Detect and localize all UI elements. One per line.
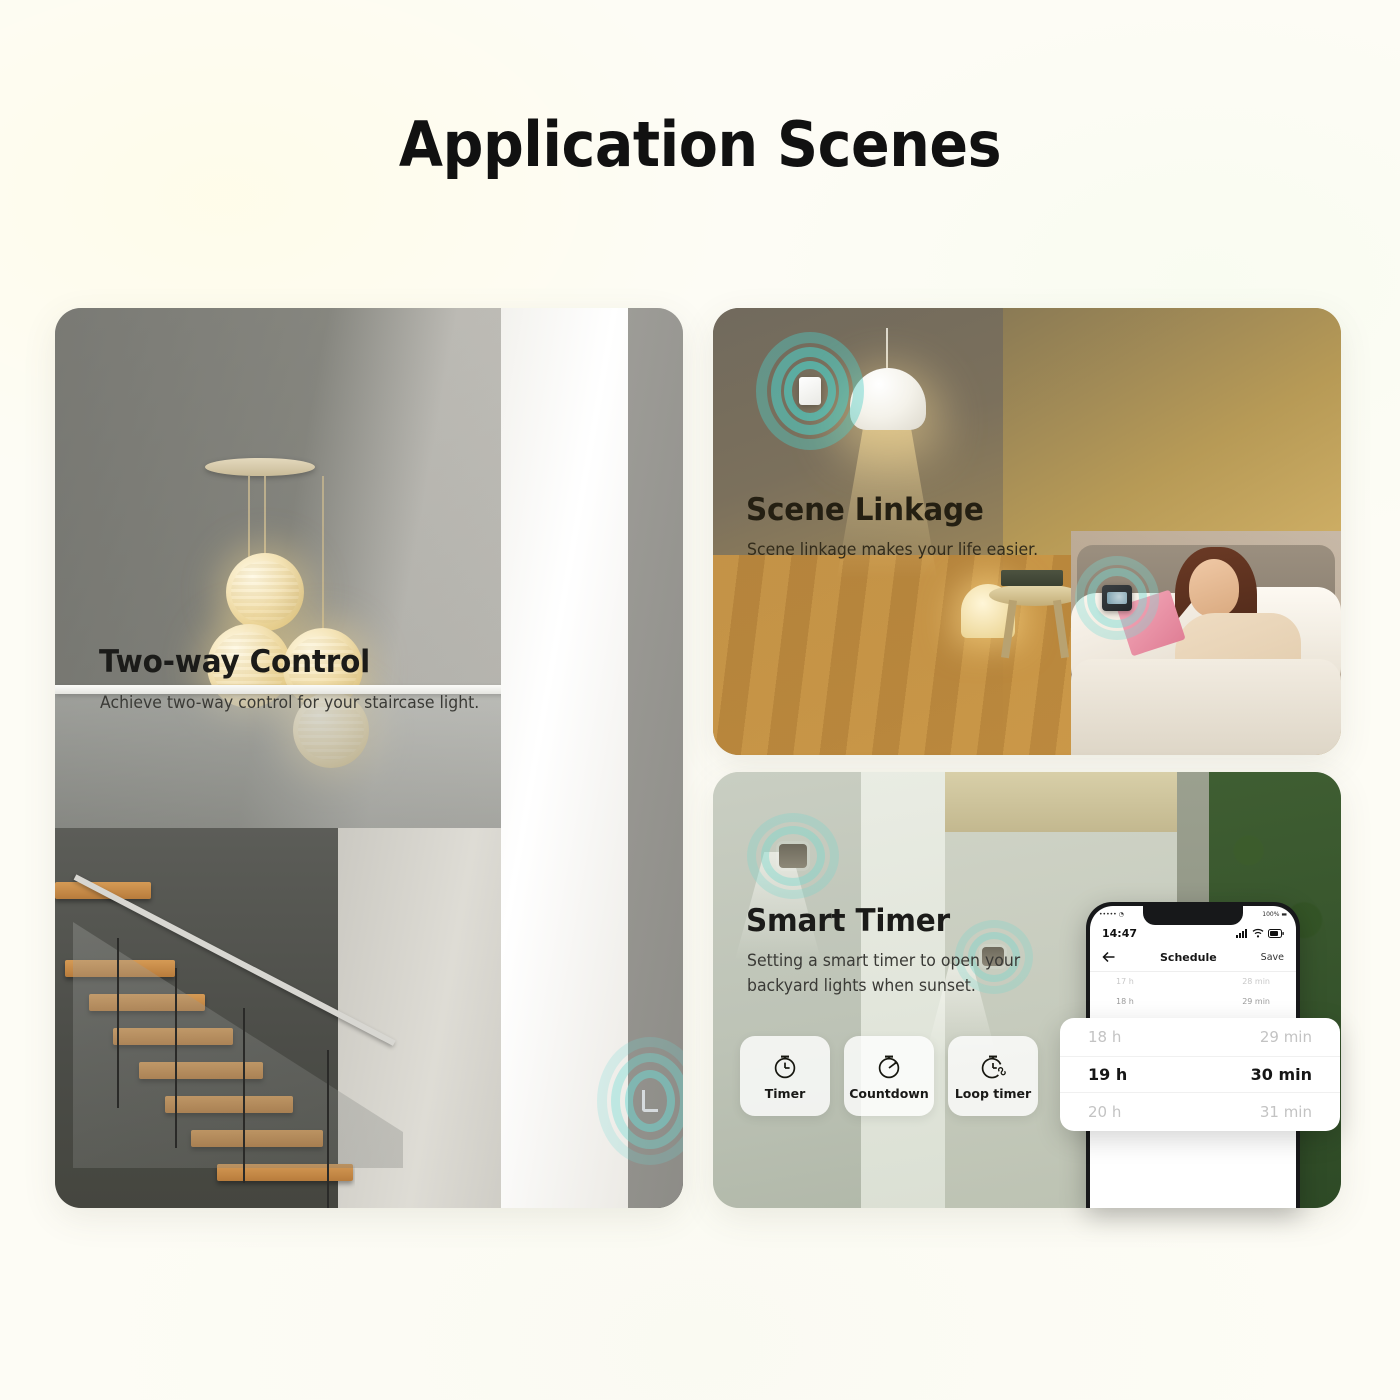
side-table	[989, 584, 1081, 606]
picker-hour: 20 h	[1088, 1103, 1121, 1121]
downlight-icon	[779, 844, 807, 868]
top-battery-label: 100% ▬	[1262, 911, 1287, 918]
phone-status-bar: 14:47	[1090, 922, 1296, 944]
status-time: 14:47	[1102, 927, 1137, 940]
wifi-icon	[1252, 928, 1264, 938]
picker-minute: 29 min	[1260, 1028, 1312, 1046]
wall-switch-bedroom[interactable]	[755, 336, 865, 446]
phone-notch	[1143, 906, 1243, 925]
card-title-scene-linkage: Scene Linkage	[746, 492, 984, 528]
phone-nav-bar: Schedule Save	[1090, 944, 1296, 972]
staircase-lower-scene	[55, 828, 683, 1208]
picker-minute: 31 min	[1260, 1103, 1312, 1121]
picker-hour: 18 h	[1088, 1028, 1121, 1046]
chip-countdown[interactable]: Countdown	[844, 1036, 934, 1116]
back-arrow-icon[interactable]	[1102, 948, 1116, 967]
timer-mode-chips: Timer Countdown Loop timer	[740, 1036, 1038, 1116]
switch-l-toggle-icon	[642, 1090, 658, 1112]
duvet	[1071, 659, 1341, 755]
status-icons	[1236, 928, 1284, 938]
picker-hour: 18 h	[1116, 992, 1134, 1012]
card-subtitle-two-way: Achieve two-way control for your stairca…	[100, 691, 479, 716]
backyard-downlight-upper[interactable]	[745, 808, 841, 904]
countdown-icon	[874, 1051, 904, 1081]
picker-hour: 17 h	[1116, 972, 1134, 992]
smart-panel-bedside[interactable]	[1073, 554, 1161, 642]
page-title: Application Scenes	[56, 108, 1344, 181]
switch-plate-icon	[799, 377, 821, 405]
wall-switch-lower[interactable]	[595, 1046, 683, 1156]
ceiling-plate-icon	[205, 458, 315, 476]
picker-hour: 19 h	[1088, 1065, 1127, 1084]
picker-minute: 28 min	[1242, 972, 1270, 992]
battery-icon	[1268, 929, 1284, 938]
picker-minute: 30 min	[1251, 1065, 1312, 1084]
magnified-time-picker[interactable]: 18 h 29 min 19 h 30 min 20 h 31 min	[1060, 1018, 1340, 1131]
smart-panel-icon	[1102, 585, 1132, 611]
book-on-table	[1001, 570, 1063, 586]
pendant-wire	[322, 476, 324, 630]
magnified-picker-row[interactable]: 20 h 31 min	[1060, 1093, 1340, 1131]
chip-loop-timer[interactable]: Loop timer	[948, 1036, 1038, 1116]
chip-label: Loop timer	[955, 1086, 1031, 1101]
card-scene-linkage[interactable]: Scene Linkage Scene linkage makes your l…	[713, 308, 1341, 755]
rail-post	[117, 938, 119, 1108]
dots-wifi-icon: ••••• ◔	[1099, 911, 1124, 918]
magnified-picker-row[interactable]: 18 h 29 min	[1060, 1018, 1340, 1056]
chip-label: Countdown	[849, 1086, 929, 1101]
save-button[interactable]: Save	[1261, 952, 1284, 963]
picker-row[interactable]: 18 h 29 min	[1090, 992, 1296, 1012]
card-subtitle-scene-linkage: Scene linkage makes your life easier.	[747, 538, 1038, 563]
rail-post	[243, 1008, 245, 1183]
rail-post	[175, 968, 177, 1148]
chip-timer[interactable]: Timer	[740, 1036, 830, 1116]
pendant-wire	[264, 476, 266, 554]
globe-lamp	[226, 553, 304, 631]
rail-post	[327, 1050, 329, 1208]
person-head	[1189, 559, 1239, 617]
picker-row[interactable]: 17 h 28 min	[1090, 972, 1296, 992]
signal-icon	[1236, 928, 1248, 938]
card-subtitle-smart-timer: Setting a smart timer to open your backy…	[747, 949, 1032, 999]
card-title-two-way: Two-way Control	[99, 644, 370, 680]
timer-icon	[770, 1051, 800, 1081]
magnified-picker-row-selected[interactable]: 19 h 30 min	[1060, 1056, 1340, 1094]
chip-label: Timer	[765, 1086, 805, 1101]
loop-timer-icon	[978, 1051, 1008, 1081]
nav-title: Schedule	[1160, 951, 1217, 964]
card-two-way-control[interactable]: Two-way Control Achieve two-way control …	[55, 308, 683, 1208]
card-title-smart-timer: Smart Timer	[746, 903, 950, 939]
picker-minute: 29 min	[1242, 992, 1270, 1012]
